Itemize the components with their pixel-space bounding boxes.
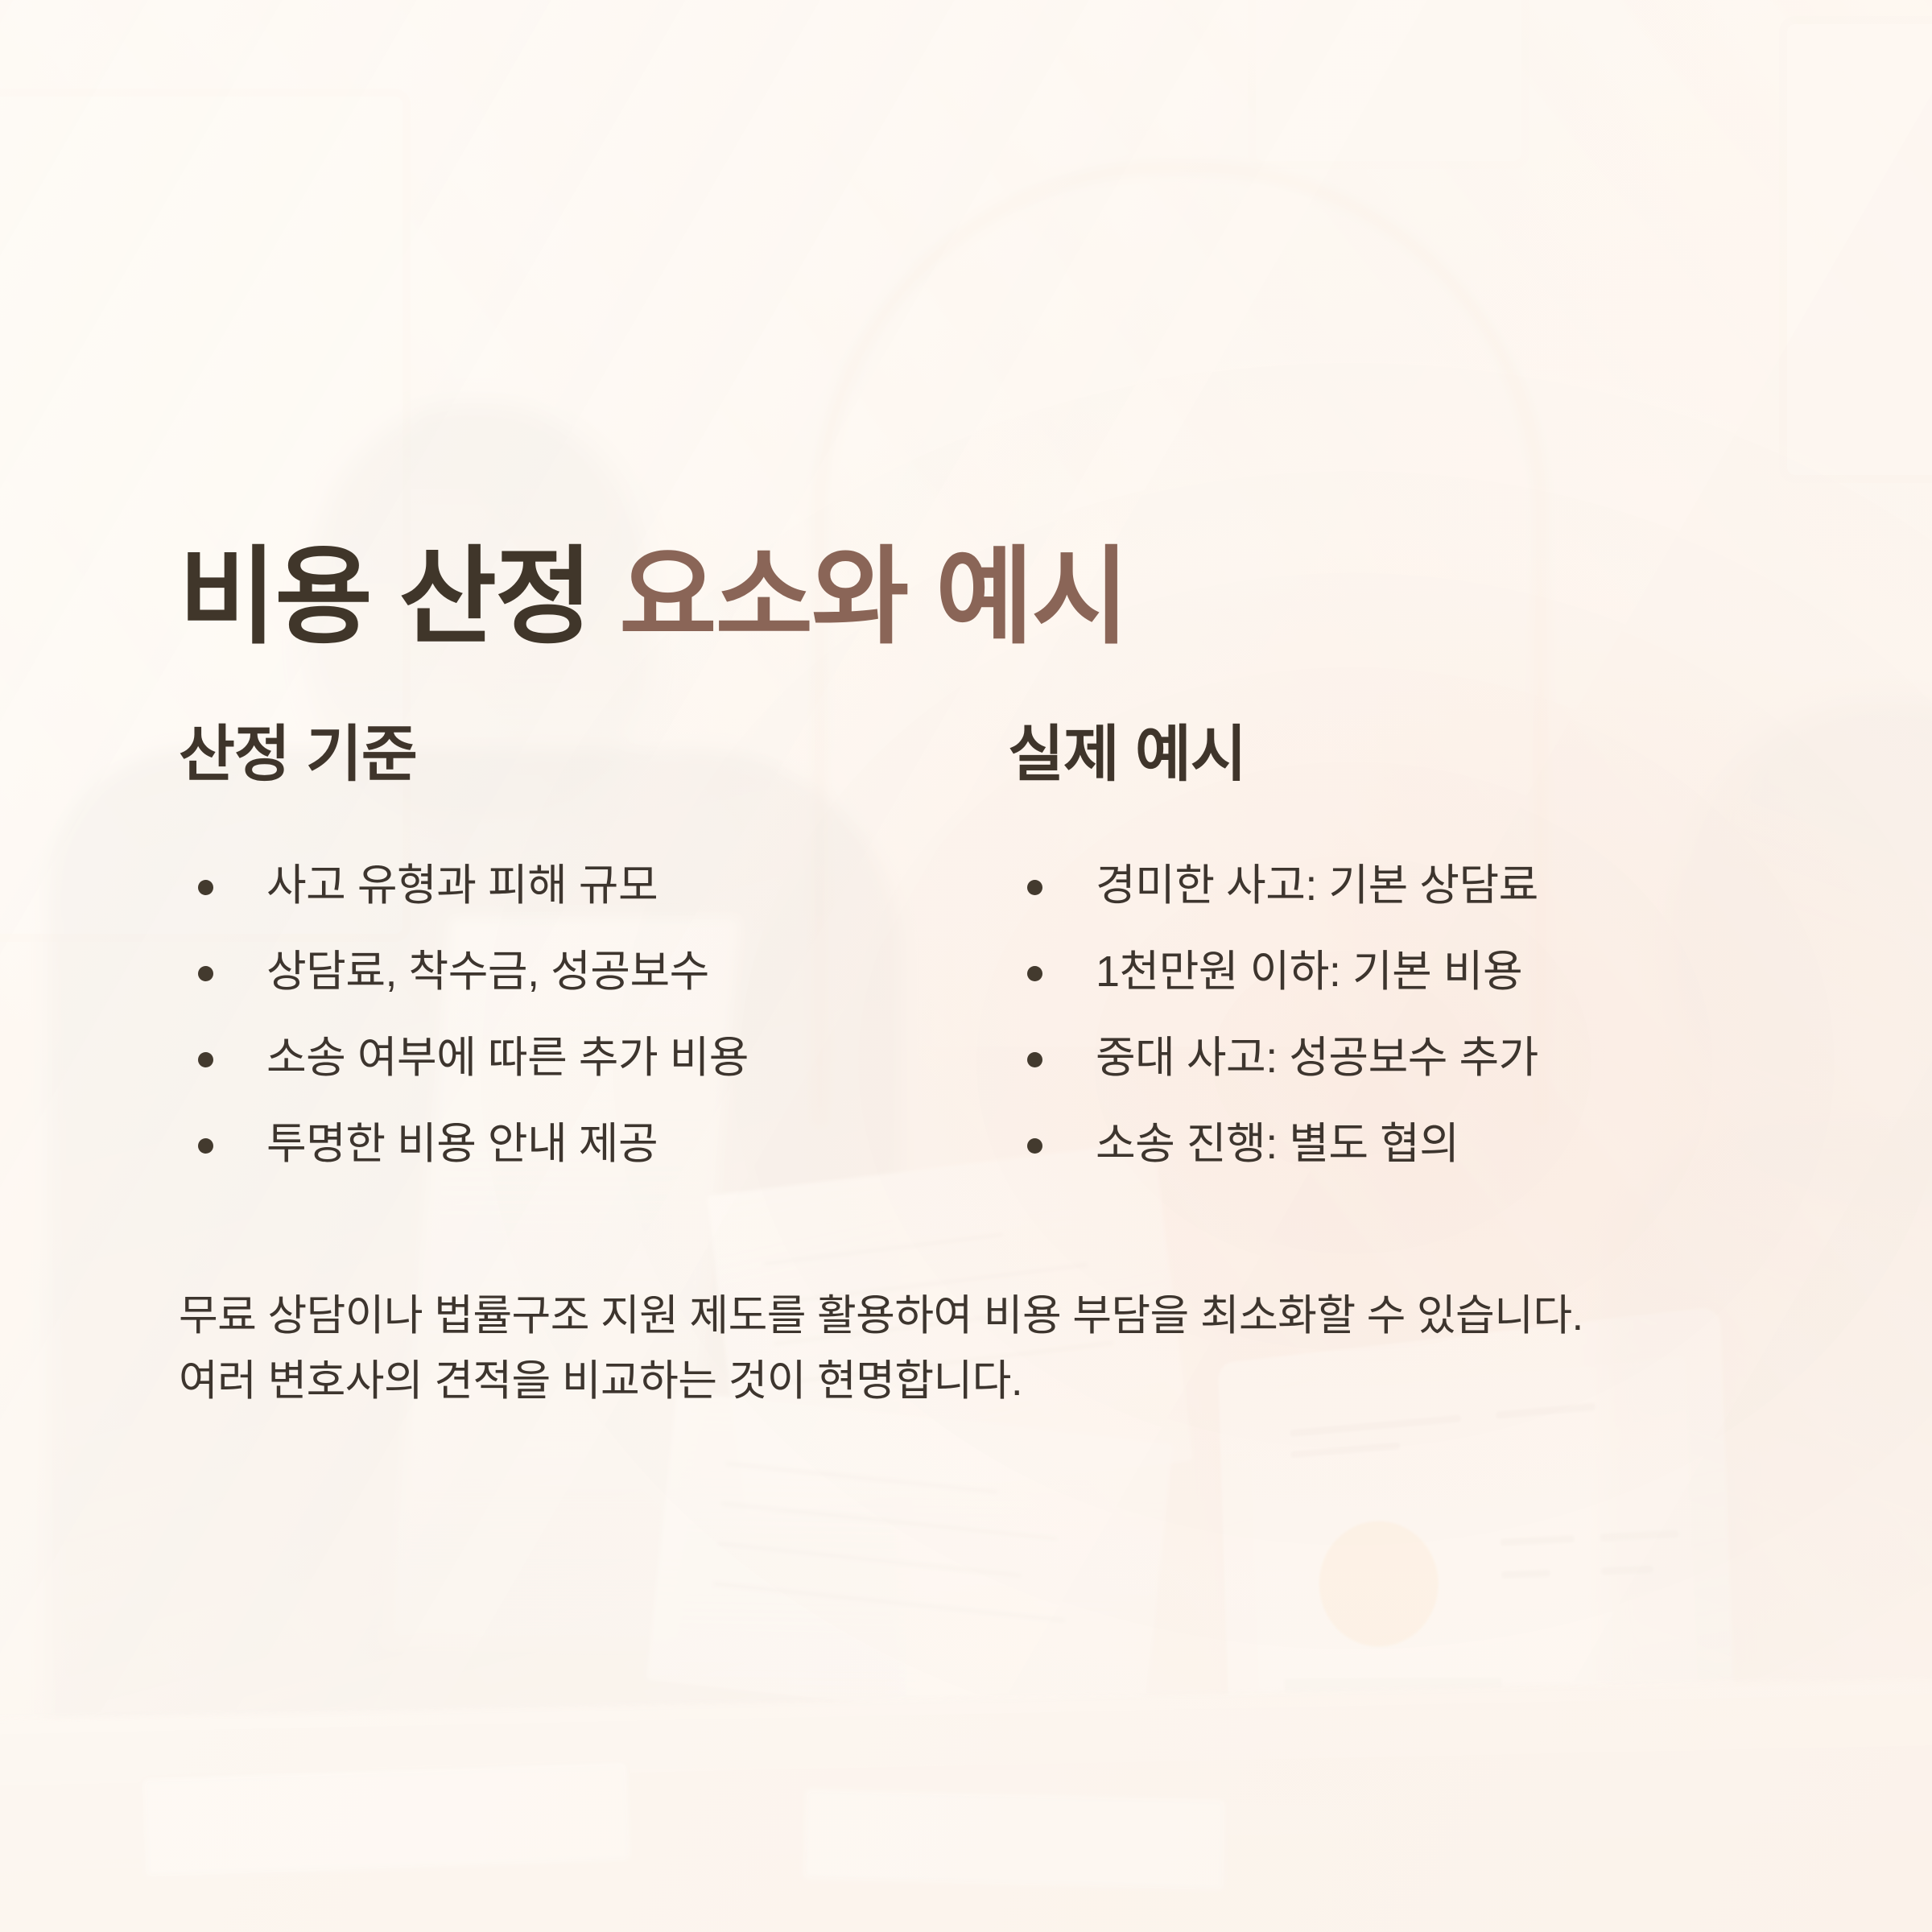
bullet-text: 1천만원 이하: 기본 비용 [1096,949,1522,995]
bullet-dot-icon [1027,966,1042,981]
bullet-dot-icon [198,1052,213,1067]
list-item: 소송 진행: 별도 협의 [1008,1121,1765,1207]
list-item: 투명한 비용 안내 제공 [179,1121,935,1207]
bullet-text: 상담료, 착수금, 성공보수 [266,949,709,995]
bullet-text: 사고 유형과 피해 규모 [266,863,658,909]
bullet-dot-icon [198,1138,213,1154]
list-item: 1천만원 이하: 기본 비용 [1008,949,1765,1035]
footnote-line-2: 여러 변호사의 견적을 비교하는 것이 현명합니다. [179,1349,1797,1414]
list-item: 상담료, 착수금, 성공보수 [179,949,935,1035]
bullet-list-examples: 경미한 사고: 기본 상담료 1천만원 이하: 기본 비용 중대 사고: 성공보… [1008,863,1765,1207]
infographic-card: 비용 산정 요소와 예시 산정 기준 사고 유형과 피해 규모 상담료, 착수금… [0,0,1932,1932]
list-item: 사고 유형과 피해 규모 [179,863,935,949]
page-title-part-dark: 비용 산정 [179,538,591,656]
bullet-dot-icon [198,966,213,981]
bullet-dot-icon [1027,880,1042,895]
bullet-text: 소송 여부에 따른 추가 비용 [266,1035,749,1081]
bullet-text: 경미한 사고: 기본 상담료 [1096,863,1538,909]
bullet-dot-icon [1027,1052,1042,1067]
section-heading-examples: 실제 예시 [1008,724,1765,786]
list-item: 중대 사고: 성공보수 추가 [1008,1035,1765,1121]
footnote-line-1: 무료 상담이나 법률구조 지원 제도를 활용하여 비용 부담을 최소화할 수 있… [179,1284,1797,1349]
list-item: 소송 여부에 따른 추가 비용 [179,1035,935,1121]
bullet-list-criteria: 사고 유형과 피해 규모 상담료, 착수금, 성공보수 소송 여부에 따른 추가… [179,863,935,1207]
footnote: 무료 상담이나 법률구조 지원 제도를 활용하여 비용 부담을 최소화할 수 있… [179,1284,1797,1414]
bullet-text: 투명한 비용 안내 제공 [266,1121,658,1167]
page-title-part-light: 요소와 예시 [619,538,1128,656]
bullet-dot-icon [198,880,213,895]
bullet-text: 소송 진행: 별도 협의 [1096,1121,1459,1167]
page-title: 비용 산정 요소와 예시 [179,544,1128,650]
bullet-dot-icon [1027,1138,1042,1154]
section-heading-criteria: 산정 기준 [179,724,935,786]
column-examples: 실제 예시 경미한 사고: 기본 상담료 1천만원 이하: 기본 비용 중대 사… [1008,724,1765,1207]
list-item: 경미한 사고: 기본 상담료 [1008,863,1765,949]
column-criteria: 산정 기준 사고 유형과 피해 규모 상담료, 착수금, 성공보수 소송 여부에… [179,724,935,1207]
bullet-text: 중대 사고: 성공보수 추가 [1096,1035,1538,1081]
